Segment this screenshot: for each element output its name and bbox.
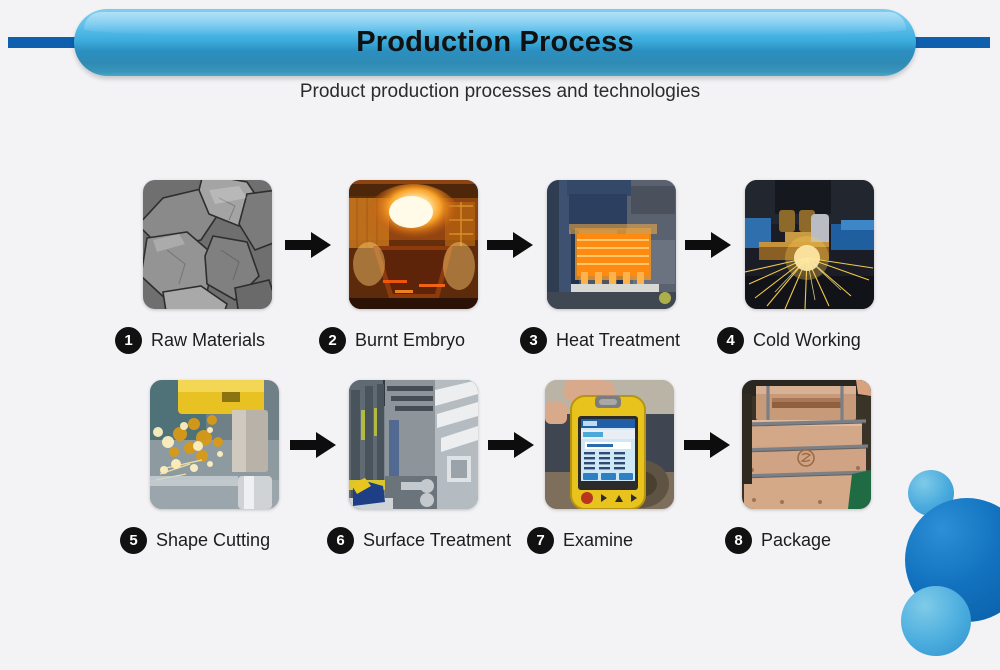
page-subtitle: Product production processes and technol… — [0, 81, 1000, 103]
machining-sparks-photo — [745, 180, 874, 309]
step-number-badge: 6 — [327, 527, 354, 554]
step-label: Raw Materials — [151, 330, 265, 351]
step-label: Surface Treatment — [363, 530, 511, 551]
process-step-2[interactable]: 2 Burnt Embryo — [349, 180, 478, 309]
small-bottom-circle-icon — [901, 586, 971, 656]
title-banner: Production Process — [74, 9, 916, 76]
right-arrow-icon — [488, 432, 534, 458]
process-flow: 1 Raw Materials — [0, 180, 1000, 580]
step-caption: 8 Package — [725, 527, 831, 554]
header: Production Process — [0, 0, 1000, 90]
right-arrow-icon — [487, 232, 533, 258]
right-arrow-icon — [685, 232, 731, 258]
step-number-badge: 8 — [725, 527, 752, 554]
step-number-badge: 2 — [319, 327, 346, 354]
step-label: Package — [761, 530, 831, 551]
glowing-billets-furnace-photo — [547, 180, 676, 309]
step-number-badge: 3 — [520, 327, 547, 354]
yellow-press-sparks-photo — [150, 380, 279, 509]
right-arrow-icon — [684, 432, 730, 458]
step-label: Examine — [563, 530, 633, 551]
right-arrow-icon — [290, 432, 336, 458]
step-caption: 6 Surface Treatment — [327, 527, 511, 554]
slide-canvas: Production Process Product production pr… — [0, 0, 1000, 670]
step-caption: 7 Examine — [527, 527, 633, 554]
step-caption: 2 Burnt Embryo — [319, 327, 465, 354]
process-step-3[interactable]: 3 Heat Treatment — [547, 180, 676, 309]
process-step-6[interactable]: 6 Surface Treatment — [349, 380, 478, 509]
step-number-badge: 1 — [115, 327, 142, 354]
handheld-xrf-analyzer-photo — [545, 380, 674, 509]
page-title: Production Process — [74, 25, 916, 58]
step-number-badge: 7 — [527, 527, 554, 554]
wooden-crate-packing-photo — [742, 380, 871, 509]
process-row-1: 1 Raw Materials — [0, 180, 1000, 380]
process-step-7[interactable]: 7 Examine — [545, 380, 674, 509]
process-row-2: 5 Shape Cutting — [0, 380, 1000, 580]
step-label: Heat Treatment — [556, 330, 680, 351]
step-caption: 5 Shape Cutting — [120, 527, 270, 554]
step-caption: 4 Cold Working — [717, 327, 861, 354]
step-number-badge: 5 — [120, 527, 147, 554]
accent-bar-right-icon — [905, 37, 990, 48]
right-arrow-icon — [285, 232, 331, 258]
step-caption: 1 Raw Materials — [115, 327, 265, 354]
step-label: Cold Working — [753, 330, 861, 351]
step-caption: 3 Heat Treatment — [520, 327, 680, 354]
process-step-8[interactable]: 8 Package — [742, 380, 871, 509]
step-label: Shape Cutting — [156, 530, 270, 551]
blast-furnace-fire-photo — [349, 180, 478, 309]
process-step-4[interactable]: 4 Cold Working — [745, 180, 874, 309]
factory-line-worker-photo — [349, 380, 478, 509]
grey-ore-rocks-photo — [143, 180, 272, 309]
process-step-5[interactable]: 5 Shape Cutting — [150, 380, 279, 509]
step-label: Burnt Embryo — [355, 330, 465, 351]
step-number-badge: 4 — [717, 327, 744, 354]
process-step-1[interactable]: 1 Raw Materials — [143, 180, 272, 309]
